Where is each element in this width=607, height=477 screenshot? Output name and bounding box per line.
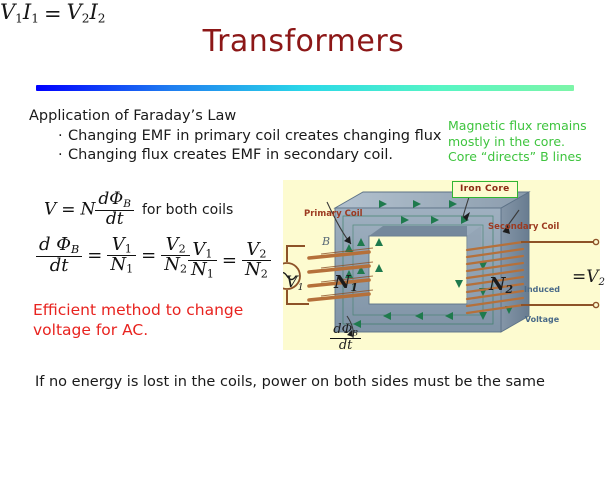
label-flux-rate-figure: dΦBdt bbox=[322, 308, 361, 352]
figure-numerator-text: dΦ bbox=[333, 322, 352, 337]
output-terminal-top bbox=[593, 239, 598, 244]
equation-power-balance: V1I1=V2I2 bbox=[0, 0, 607, 26]
figure-fraction-numerator: dΦB bbox=[330, 323, 361, 339]
power-conservation-statement: If no energy is lost in the coils, power… bbox=[35, 374, 545, 390]
eq-operator-equals: = bbox=[61, 200, 75, 220]
figure-numerator-subscript: B bbox=[352, 328, 358, 337]
efficient-note-line-1: Efficient method to change bbox=[33, 300, 243, 320]
output-terminal-bottom bbox=[593, 302, 598, 307]
eq-numerator-subscript: B bbox=[71, 243, 79, 256]
eq-numerator-text: dΦ bbox=[98, 189, 123, 209]
page-title: Transformers bbox=[0, 24, 607, 59]
eq-fraction-dphi-dt: d ΦBdt bbox=[36, 236, 82, 276]
flux-note-line-3: Core “directs” B lines bbox=[448, 149, 607, 165]
eq-fraction-numerator: dΦB bbox=[95, 191, 134, 211]
bullet-marker: · bbox=[58, 127, 68, 146]
equation-turns-ratio: V1N1=V2N2 bbox=[188, 241, 271, 280]
eq-denominator-text: N bbox=[191, 259, 207, 280]
equation-faraday-law: V=NdΦBdtfor both coils bbox=[44, 191, 233, 229]
eq-fraction-denominator: N2 bbox=[242, 261, 271, 280]
eq-denominator-subscript: 2 bbox=[180, 263, 187, 276]
label-n2-secondary-turns: N2 bbox=[489, 274, 513, 296]
eq-fraction-numerator: V2 bbox=[161, 236, 190, 256]
eq-denominator-subscript: 1 bbox=[207, 268, 214, 281]
eq-fraction-denominator: N2 bbox=[161, 256, 190, 275]
eq-symbol-v2: V bbox=[67, 0, 82, 24]
eq-operator-equals: = bbox=[44, 2, 62, 26]
eq-denominator-subscript: 2 bbox=[261, 268, 268, 281]
symbol-subscript: 2 bbox=[599, 277, 605, 288]
eq-symbol-v1: V bbox=[0, 0, 15, 24]
eq-fraction-numerator: V1 bbox=[188, 241, 217, 261]
eq-fraction-denominator: dt bbox=[36, 257, 82, 276]
eq-fraction-v2-n2: V2N2 bbox=[161, 236, 190, 275]
eq-operator-equals: = bbox=[222, 250, 237, 271]
eq-fraction-denominator: dt bbox=[95, 211, 134, 229]
eq-numerator-text: V bbox=[112, 234, 125, 255]
eq-numerator-text: d Φ bbox=[39, 234, 71, 255]
faraday-law-heading: Application of Faraday’s Law bbox=[29, 108, 236, 124]
label-secondary-coil: Secondary Coil bbox=[488, 222, 559, 232]
figure-fraction-denominator: dt bbox=[330, 339, 361, 353]
eq-symbol-i1: I bbox=[23, 0, 31, 24]
list-item: ·Changing flux creates EMF in secondary … bbox=[58, 146, 442, 165]
eq-fraction-numerator: d ΦB bbox=[36, 236, 82, 257]
eq-fraction-v1-n1: V1N1 bbox=[107, 236, 136, 275]
eq-denominator-text: N bbox=[245, 259, 261, 280]
label-induced-voltage: Induced Voltage bbox=[524, 265, 560, 335]
eq-numerator-text: V bbox=[192, 239, 205, 260]
eq-denominator-text: N bbox=[164, 254, 180, 275]
symbol-subscript: 1 bbox=[298, 282, 304, 293]
eq-fraction-numerator: V1 bbox=[107, 236, 136, 256]
eq-symbol-v: V bbox=[44, 199, 56, 219]
symbol-subscript: 1 bbox=[350, 281, 358, 294]
flux-note-line-2: mostly in the core. bbox=[448, 134, 607, 150]
title-divider-rule bbox=[36, 85, 574, 91]
eq-operator-equals: = bbox=[141, 245, 156, 266]
symbol-v: V bbox=[286, 272, 298, 291]
label-n1-primary-turns: N1 bbox=[334, 272, 358, 294]
symbol-subscript: 2 bbox=[505, 283, 513, 296]
efficient-method-note: Efficient method to change voltage for A… bbox=[33, 300, 243, 340]
label-primary-coil: Primary Coil bbox=[304, 209, 363, 219]
efficient-note-line-2: voltage for AC. bbox=[33, 320, 243, 340]
eq-numerator-text: V bbox=[246, 239, 259, 260]
eq-fraction-numerator: V2 bbox=[242, 241, 271, 261]
figure-fraction-dphi-dt: dΦBdt bbox=[330, 323, 361, 352]
magnetic-flux-note: Magnetic flux remains mostly in the core… bbox=[448, 118, 607, 165]
eq-numerator-text: V bbox=[166, 234, 179, 255]
eq-fraction-v1-n1: V1N1 bbox=[188, 241, 217, 280]
induced-voltage-line-1: Induced bbox=[524, 285, 560, 295]
equation-flux-rate-ratio: d ΦBdt=V1N1=V2N2 bbox=[36, 236, 190, 276]
eq-fraction-dphi-dt: dΦBdt bbox=[95, 191, 134, 229]
eq-symbol-i2: I bbox=[90, 0, 98, 24]
iron-core-3d bbox=[335, 192, 529, 332]
eq-fraction-denominator: N1 bbox=[188, 261, 217, 280]
eq-fraction-v2-n2: V2N2 bbox=[242, 241, 271, 280]
list-item-label: Changing flux creates EMF in secondary c… bbox=[68, 147, 393, 163]
eq-denominator-text: N bbox=[110, 254, 126, 275]
eq-annotation-both-coils: for both coils bbox=[142, 202, 233, 218]
label-v2-output: =V2 bbox=[572, 267, 605, 288]
induced-equals-sign: = bbox=[572, 267, 586, 287]
eq-numerator-subscript: B bbox=[123, 198, 131, 210]
list-item: ·Changing EMF in primary coil creates ch… bbox=[58, 127, 442, 146]
eq-symbol-n: N bbox=[81, 199, 96, 219]
eq-fraction-denominator: N1 bbox=[107, 256, 136, 275]
eq-operator-equals: = bbox=[87, 245, 102, 266]
induced-voltage-line-2: Voltage bbox=[524, 315, 560, 325]
symbol-n: N bbox=[334, 272, 350, 293]
eq-denominator-subscript: 1 bbox=[126, 263, 133, 276]
symbol-v: V bbox=[586, 267, 598, 287]
label-b-field: B bbox=[322, 235, 330, 248]
label-iron-core: Iron Core bbox=[452, 181, 518, 198]
list-item-label: Changing EMF in primary coil creates cha… bbox=[68, 128, 442, 144]
bullet-marker: · bbox=[58, 146, 68, 165]
symbol-n: N bbox=[489, 274, 505, 295]
flux-note-line-1: Magnetic flux remains bbox=[448, 118, 607, 134]
label-v1-source: V1 bbox=[286, 272, 304, 293]
bullet-list: ·Changing EMF in primary coil creates ch… bbox=[58, 127, 442, 165]
